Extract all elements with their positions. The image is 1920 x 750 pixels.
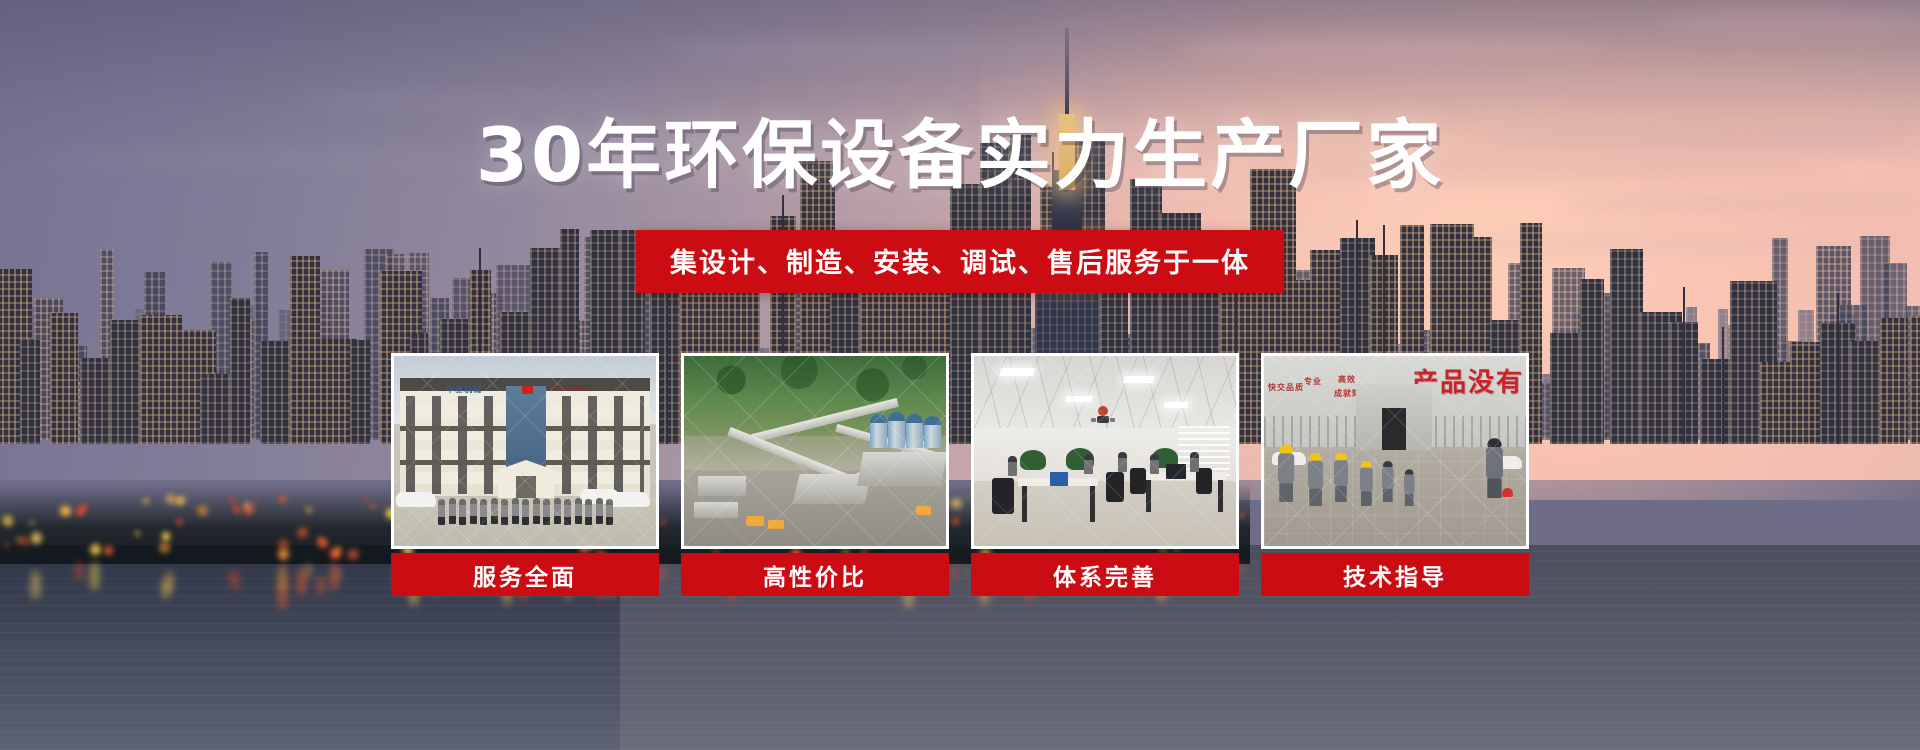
staff-figure [585, 499, 592, 525]
staff-figure [512, 498, 519, 524]
factory-small-text: 快交品质 [1268, 382, 1304, 393]
feature-card[interactable]: 高性价比 [681, 353, 949, 596]
staff-figure [575, 498, 582, 524]
card-caption[interactable]: 服务全面 [391, 553, 659, 596]
worker-figure [1278, 445, 1294, 503]
wall-emblem-icon [1086, 402, 1120, 428]
staff-figure [449, 498, 456, 524]
hero-banner: 30年环保设备实力生产厂家 集设计、制造、安装、调试、售后服务于一体 [0, 0, 1920, 750]
feature-card[interactable]: 体系完善 [971, 353, 1239, 596]
card-caption[interactable]: 技术指导 [1261, 553, 1529, 596]
staff-figure [543, 499, 550, 525]
staff-figure [606, 499, 613, 525]
staff-figure [470, 498, 477, 524]
factory-small-text: 高效 [1338, 374, 1356, 385]
card-photo[interactable] [971, 353, 1239, 549]
staff-figure [533, 498, 540, 524]
worker-figure [1308, 453, 1323, 506]
instructor-figure [1486, 438, 1503, 498]
factory-small-text: 专业 [1304, 376, 1322, 387]
building-sign-text: 中基机械 [446, 384, 482, 395]
helmet-icon [1502, 488, 1513, 497]
worker-figure [1360, 461, 1373, 506]
staff-figure [459, 499, 466, 525]
staff-figure [564, 499, 571, 525]
staff-figure [480, 499, 487, 525]
worker-figure [1382, 461, 1394, 502]
staff-figure [501, 499, 508, 525]
card-photo[interactable]: 产品没有 快交品质 专业 高效 成就辉煌 [1261, 353, 1529, 549]
card-photo[interactable]: 中基机械 4113456 [391, 353, 659, 549]
feature-card-list: 中基机械 4113456 服务全面 [0, 353, 1920, 596]
worker-figure [1404, 469, 1414, 506]
staff-figure [522, 499, 529, 525]
card-caption[interactable]: 体系完善 [971, 553, 1239, 596]
subtitle-banner: 集设计、制造、安装、调试、售后服务于一体 [636, 230, 1284, 293]
staff-figure [596, 498, 603, 524]
worker-figure [1334, 453, 1348, 502]
building-phone-text: 4113456 [552, 384, 590, 393]
staff-figure [491, 498, 498, 524]
feature-card[interactable]: 中基机械 4113456 服务全面 [391, 353, 659, 596]
feature-card[interactable]: 产品没有 快交品质 专业 高效 成就辉煌 技术指导 [1261, 353, 1529, 596]
subtitle-wrap: 集设计、制造、安装、调试、售后服务于一体 [0, 230, 1920, 293]
card-caption[interactable]: 高性价比 [681, 553, 949, 596]
staff-figure [554, 498, 561, 524]
card-photo[interactable] [681, 353, 949, 549]
flag-icon [522, 386, 533, 394]
tower-spire [1065, 28, 1069, 114]
page-title: 30年环保设备实力生产厂家 [0, 118, 1920, 193]
staff-figure [438, 499, 445, 525]
